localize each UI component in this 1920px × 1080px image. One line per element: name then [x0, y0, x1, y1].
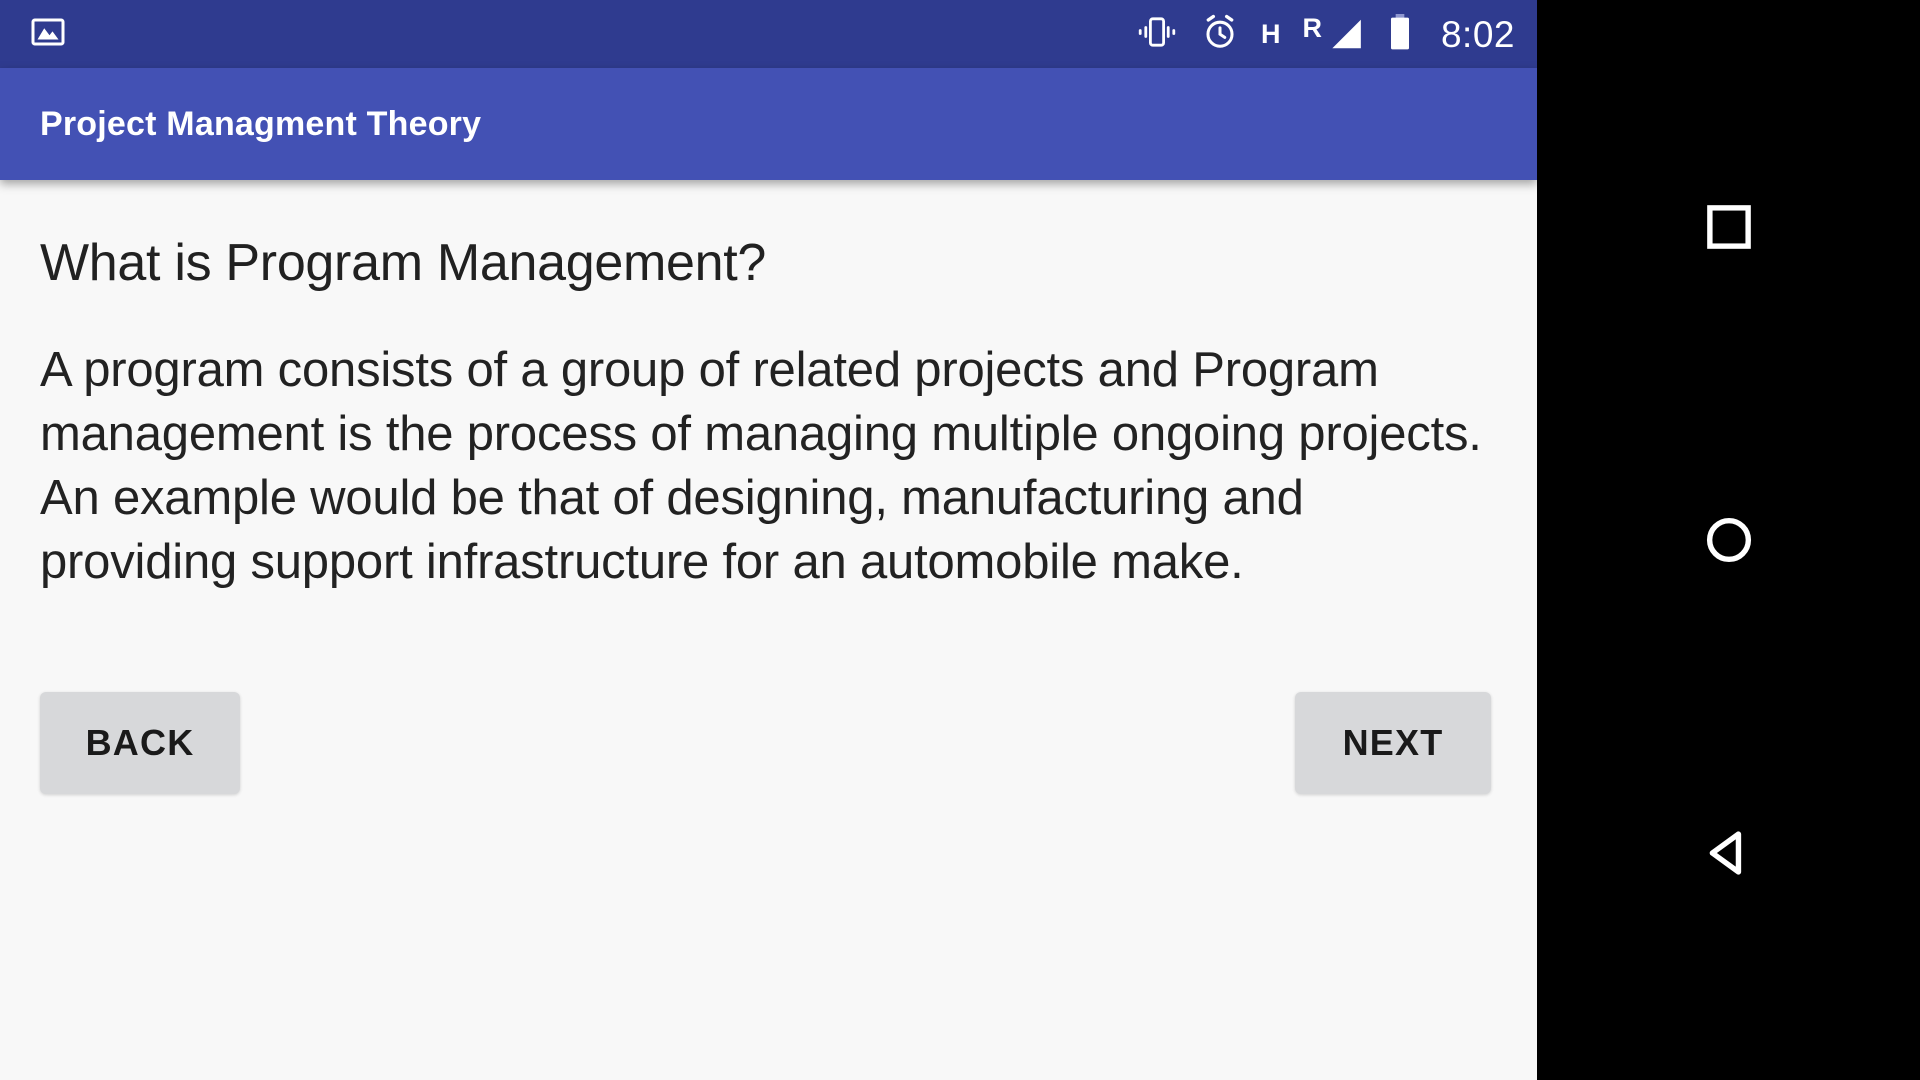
status-bar-clock: 8:02 [1441, 16, 1515, 53]
home-circle-icon[interactable] [1669, 480, 1789, 600]
roaming-icon: R [1302, 15, 1322, 42]
vibrate-icon [1135, 14, 1179, 55]
phone-viewport: H R 8:02 Project Managment Theo [0, 0, 1537, 1080]
content-area: What is Program Management? A program co… [0, 180, 1537, 1080]
next-button[interactable]: NEXT [1295, 692, 1491, 794]
status-bar-right-icons: H R 8:02 [1135, 12, 1515, 57]
app-bar-title: Project Managment Theory [40, 105, 481, 144]
device-screen: H R 8:02 Project Managment Theo [0, 0, 1920, 1080]
answer-body-text: A program consists of a group of related… [40, 338, 1497, 594]
signal-strength-icon: R [1302, 15, 1365, 53]
answer-scroll-container[interactable]: A program consists of a group of related… [40, 338, 1497, 628]
system-navigation-bar [1537, 0, 1920, 1080]
app-bar: Project Managment Theory [0, 68, 1537, 180]
navigation-button-row: BACK NEXT [40, 692, 1497, 794]
battery-icon [1387, 12, 1413, 57]
back-triangle-icon[interactable] [1669, 793, 1789, 913]
back-button[interactable]: BACK [40, 692, 240, 794]
status-bar[interactable]: H R 8:02 [0, 0, 1537, 68]
network-type-icon: H [1261, 21, 1281, 48]
gallery-image-icon [30, 14, 66, 55]
alarm-clock-icon [1201, 13, 1239, 56]
recents-square-icon[interactable] [1669, 167, 1789, 287]
status-bar-left-icons [30, 14, 66, 55]
question-heading: What is Program Management? [40, 234, 1497, 294]
